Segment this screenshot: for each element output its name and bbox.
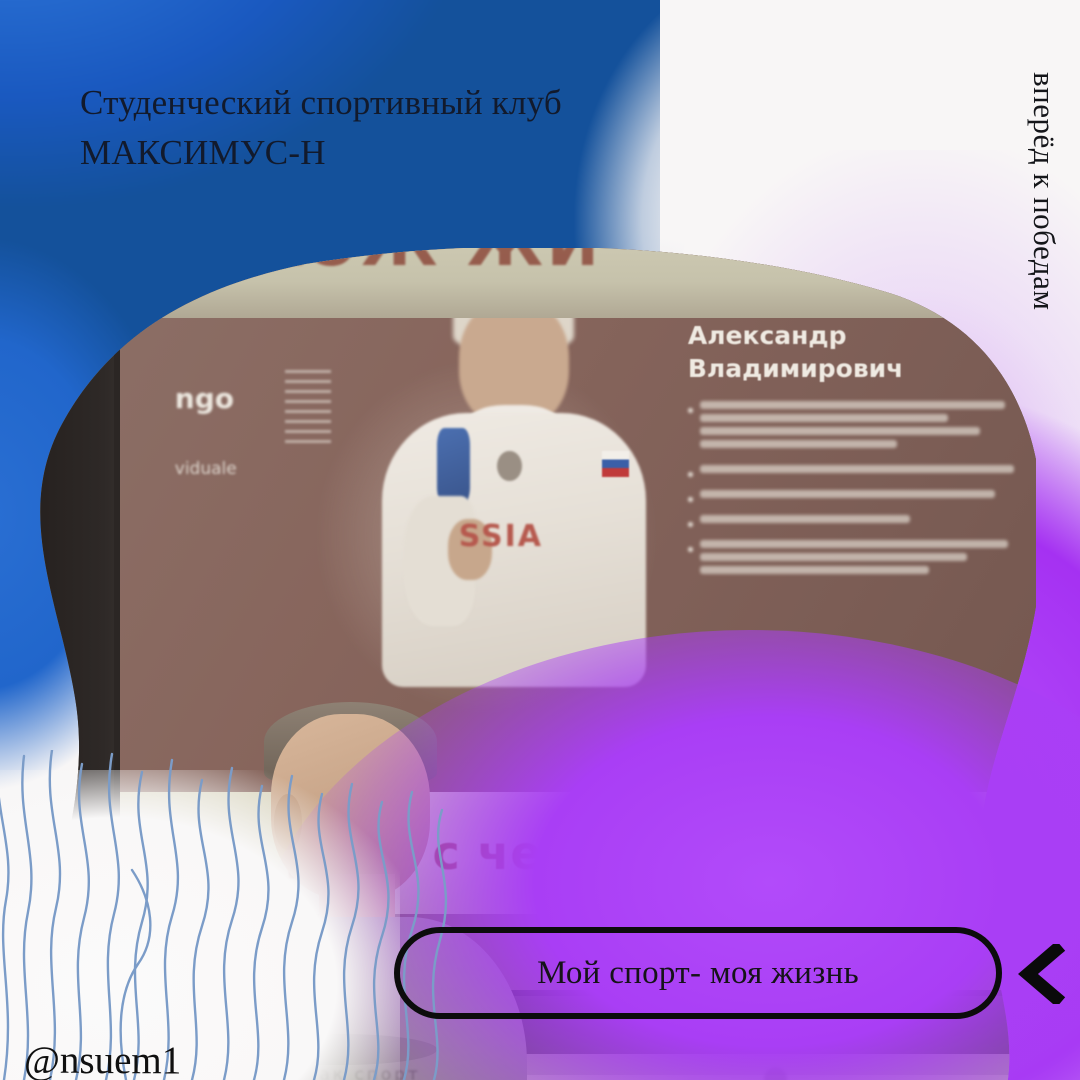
bullet-dot-icon [688,497,693,502]
club-title-line-1: Студенческий спортивный клуб [80,78,562,128]
slide-bullet [688,540,1018,579]
slide-athlete-medal [437,428,470,504]
bullet-dot-icon [688,547,693,552]
bullet-lines [700,490,1018,503]
slide-tower-graphic [285,370,331,450]
slide-bullet [688,490,1018,503]
slide-athlete-figure: SSIA [376,298,651,679]
slide-bullet [688,465,1018,478]
bullet-lines [700,540,1018,579]
bullet-dot-icon [688,408,693,413]
slide-left-text-2: viduale [175,459,237,479]
social-handle: @nsuem1 [24,1038,181,1080]
slide-jacket-text: SSIA [459,519,543,554]
bullet-lines [700,515,1018,528]
slide-athlete-emblem [497,451,522,481]
caption-text: Мой спорт- моя жизнь [537,955,859,992]
wavy-lines-decoration [0,750,460,1080]
slide-name-line-3: Владимирович [688,352,1018,385]
vertical-slogan: вперёд к победам [1026,72,1062,311]
club-title-line-2: МАКСИМУС-Н [80,128,562,178]
bullet-dot-icon [688,522,693,527]
chevron-left-icon[interactable] [1012,944,1068,1004]
bullet-lines [700,465,1018,478]
slide-left-text-block: ngo viduale [175,382,237,479]
slide-left-text-1: ngo [175,382,237,415]
page-title: Студенческий спортивный клуб МАКСИМУС-Н [80,78,562,177]
slide-bullet [688,515,1018,528]
poster-canvas: SSIA ngo viduale Логутенко Александр Вла… [0,0,1080,1080]
slide-achievements-list [688,401,1018,579]
caption-pill[interactable]: Мой спорт- моя жизнь [394,927,1002,1019]
bullet-lines [700,401,1018,453]
slide-bullet [688,401,1018,453]
bullet-dot-icon [688,472,693,477]
slide-athlete-flag [602,451,629,478]
